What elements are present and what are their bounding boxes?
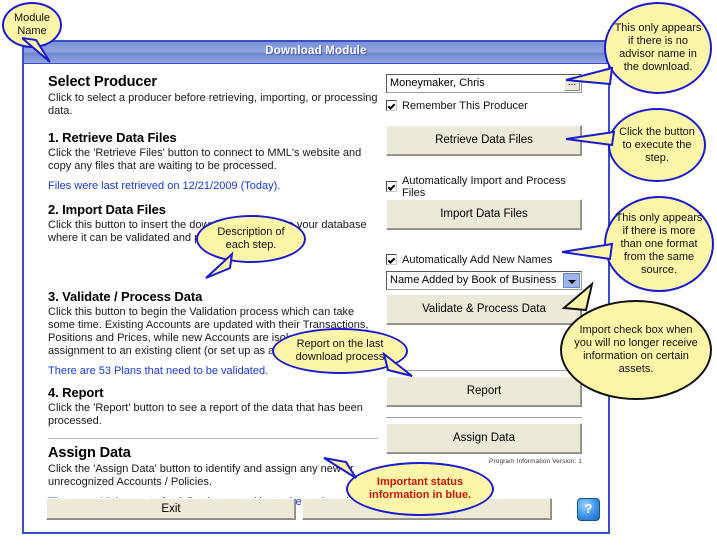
- download-module-window: Download Module Select Producer Click to…: [22, 40, 610, 534]
- window-title: Download Module: [24, 45, 608, 57]
- producer-field-row: Moneymaker, Chris ...: [386, 74, 582, 93]
- auto-add-names-checkbox[interactable]: Automatically Add New Names: [386, 252, 582, 267]
- exit-button[interactable]: Exit: [46, 498, 296, 520]
- validate-process-data-button[interactable]: Validate & Process Data: [386, 294, 582, 325]
- callout-text: Important status information in blue.: [356, 476, 484, 502]
- section-heading: 4. Report: [48, 385, 378, 400]
- status-last-retrieved: Files were last retrieved on 12/21/2009 …: [48, 180, 378, 192]
- section-description: Click the 'Report' button to see a repor…: [48, 402, 378, 428]
- callout-important-status-tail: [322, 456, 366, 484]
- callout-text: Description of each step.: [206, 226, 296, 252]
- checkbox-checked-icon[interactable]: [386, 100, 397, 111]
- checkbox-label: Automatically Add New Names: [402, 254, 552, 266]
- import-data-files-button[interactable]: Import Data Files: [386, 199, 582, 230]
- help-icon[interactable]: ?: [577, 498, 600, 521]
- assign-data-button[interactable]: Assign Data: [386, 423, 582, 454]
- callout-text: Click the button to execute the step.: [618, 126, 696, 165]
- section-divider: [48, 438, 378, 439]
- callout-import-check-box-tail: [560, 280, 600, 314]
- section-retrieve-data-files: 1. Retrieve Data Files Click the 'Retrie…: [48, 130, 378, 192]
- checkbox-label: Remember This Producer: [402, 100, 528, 112]
- callout-import-check-box: Import check box when you will no longer…: [560, 300, 712, 400]
- section-select-producer: Select Producer Click to select a produc…: [48, 74, 378, 118]
- section-description: Click to select a producer before retrie…: [48, 92, 378, 118]
- name-format-selected-value: Name Added by Book of Business: [390, 274, 556, 286]
- controls-column: Moneymaker, Chris ... Remember This Prod…: [386, 74, 582, 465]
- window-footer: Exit Cancel ?: [24, 498, 608, 528]
- section-report: 4. Report Click the 'Report' button to s…: [48, 385, 378, 428]
- retrieve-data-files-button[interactable]: Retrieve Data Files: [386, 125, 582, 156]
- callout-important-status: Important status information in blue.: [346, 462, 494, 516]
- instructions-column: Select Producer Click to select a produc…: [48, 74, 378, 510]
- callout-text: This only appears if there is more than …: [614, 212, 704, 277]
- checkbox-checked-icon[interactable]: [386, 181, 397, 192]
- callout-text: This only appears if there is no advisor…: [614, 22, 702, 74]
- callout-click-button: Click the button to execute the step.: [608, 108, 706, 182]
- section-heading: 2. Import Data Files: [48, 202, 378, 217]
- section-description: Click the 'Retrieve Files' button to con…: [48, 147, 378, 173]
- control-divider: [386, 417, 582, 418]
- checkbox-checked-icon[interactable]: [386, 254, 397, 265]
- section-heading: Select Producer: [48, 74, 378, 90]
- callout-more-format-tail: [562, 242, 614, 262]
- section-heading: 3. Validate / Process Data: [48, 289, 378, 304]
- callout-module-name-tail: [22, 36, 72, 64]
- callout-no-advisor-name: This only appears if there is no advisor…: [604, 2, 712, 94]
- callout-click-button-tail: [566, 130, 616, 148]
- callout-more-than-one-format: This only appears if there is more than …: [604, 196, 714, 292]
- auto-import-checkbox[interactable]: Automatically Import and Process Files: [386, 179, 582, 194]
- checkbox-label: Automatically Import and Process Files: [402, 175, 582, 199]
- producer-input[interactable]: Moneymaker, Chris: [386, 74, 582, 93]
- window-body: Select Producer Click to select a produc…: [24, 64, 608, 532]
- callout-description-tail: [204, 250, 240, 282]
- callout-report-tail: [380, 352, 416, 380]
- callout-text: Module Name: [12, 12, 52, 38]
- window-title-bar: Download Module: [24, 42, 608, 64]
- name-format-select[interactable]: Name Added by Book of Business: [386, 271, 582, 290]
- remember-producer-checkbox[interactable]: Remember This Producer: [386, 98, 582, 113]
- report-button[interactable]: Report: [386, 376, 582, 407]
- section-heading: 1. Retrieve Data Files: [48, 130, 378, 145]
- callout-no-advisor-tail: [566, 66, 614, 88]
- callout-text: Import check box when you will no longer…: [574, 324, 698, 376]
